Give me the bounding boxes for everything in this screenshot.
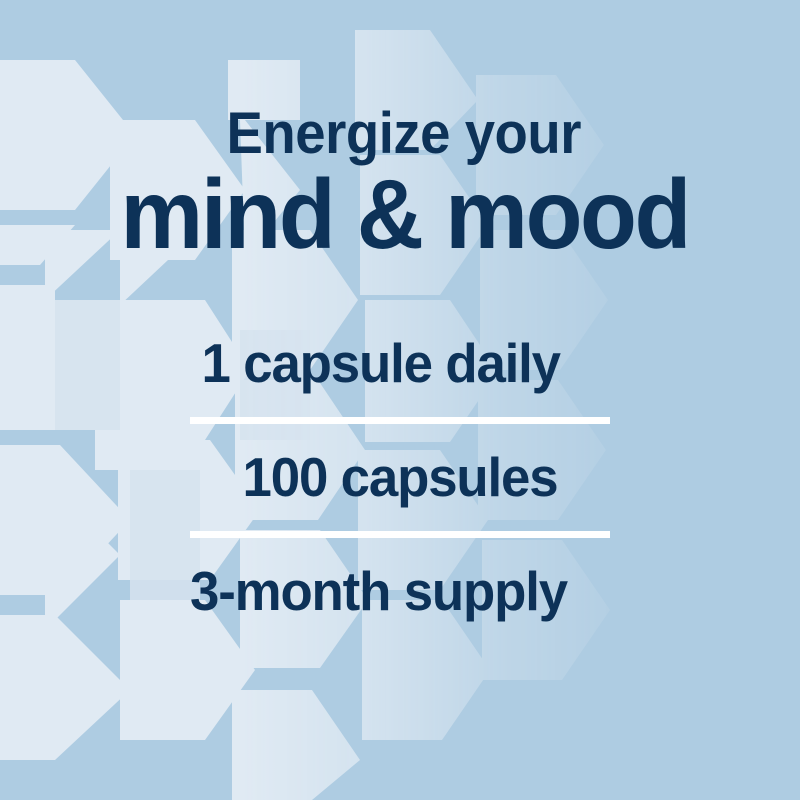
content-layer: Energize your mind & mood 1 capsule dail… [0,0,800,800]
headline-line-2: mind & mood [20,165,780,263]
stat-dosage: 1 capsule daily [190,310,593,417]
divider-1 [190,417,610,424]
stat-supply-duration: 3-month supply [190,538,593,645]
product-callout-graphic: Energize your mind & mood 1 capsule dail… [0,0,800,800]
stats-list: 1 capsule daily 100 capsules 3-month sup… [190,310,610,645]
headline-line-1: Energize your [24,104,776,163]
stat-count: 100 capsules [198,424,601,531]
divider-2 [190,531,610,538]
headline: Energize your mind & mood [0,104,800,263]
